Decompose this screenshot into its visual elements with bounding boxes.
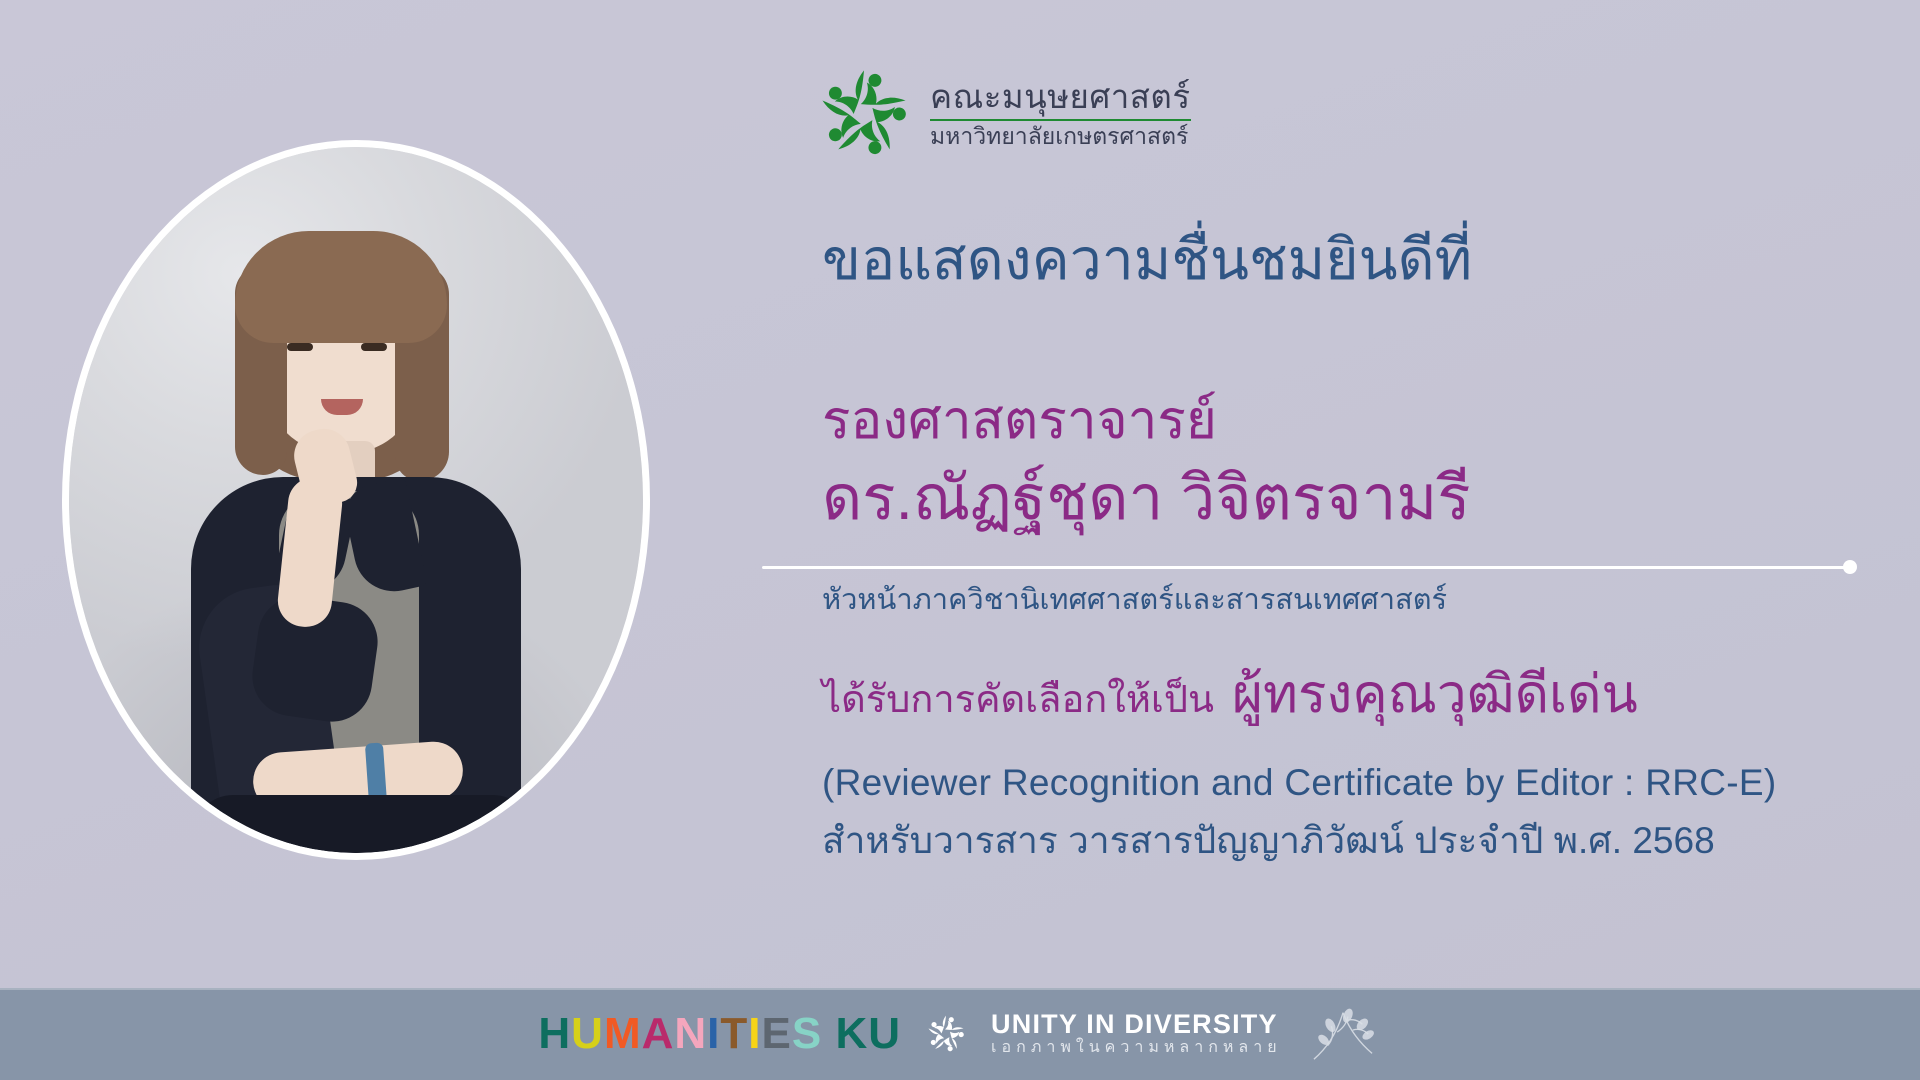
humanities-letter-7: I [748, 1012, 761, 1056]
portrait-ring [62, 140, 650, 860]
honoree-position: หัวหน้าภาควิชานิเทศศาสตร์และสารสนเทศศาสต… [822, 586, 1447, 615]
award-title-text: ผู้ทรงคุณวุฒิดีเด่น [1232, 665, 1638, 724]
congratulation-banner: คณะมนุษยศาสตร์ มหาวิทยาลัยเกษตรศาสตร์ ขอ… [0, 0, 1920, 1080]
section-divider [762, 566, 1854, 569]
award-english-text: (Reviewer Recognition and Certificate by… [822, 764, 1776, 801]
award-statement: ได้รับการคัดเลือกให้เป็นผู้ทรงคุณวุฒิดีเ… [822, 668, 1638, 721]
portrait-photo [69, 147, 643, 853]
unity-slogan-th: เอกภาพในความหลากหลาย [991, 1038, 1282, 1058]
portrait-lap [193, 795, 533, 853]
humanities-letter-9: S [792, 1012, 822, 1056]
humanities-letter-3: A [642, 1012, 675, 1056]
portrait-hair-front [235, 231, 447, 343]
humanities-letter-5: I [707, 1012, 720, 1056]
footer-content: HUMANITIES KU [0, 988, 1920, 1080]
humanities-letter-0: H [538, 1012, 571, 1056]
humanities-letter-1: U [571, 1012, 604, 1056]
divider-end-dot [1843, 560, 1857, 574]
humanities-letter-6: T [720, 1012, 748, 1056]
portrait-eye-left [287, 343, 313, 351]
humanities-letter-11: K [835, 1012, 868, 1056]
university-name-th: มหาวิทยาลัยเกษตรศาสตร์ [930, 124, 1191, 150]
ku-humanities-flower-logo [812, 62, 916, 166]
humanities-letter-4: N [674, 1012, 707, 1056]
faculty-logo: คณะมนุษยศาสตร์ มหาวิทยาลัยเกษตรศาสตร์ [812, 62, 1191, 166]
humanities-letter-10 [822, 1012, 835, 1056]
award-prefix-text: ได้รับการคัดเลือกให้เป็น [822, 679, 1214, 721]
leaf-branch-decoration [1304, 1003, 1382, 1065]
humanities-letter-12: U [868, 1012, 901, 1056]
unity-slogan-en: UNITY IN DIVERSITY [991, 1010, 1282, 1038]
humanities-ku-wordmark: HUMANITIES KU [538, 1012, 901, 1056]
faculty-logo-text: คณะมนุษยศาสตร์ มหาวิทยาลัยเกษตรศาสตร์ [930, 79, 1191, 150]
portrait-frame [62, 140, 650, 860]
faculty-name-th: คณะมนุษยศาสตร์ [930, 79, 1191, 116]
journal-year-text: สำหรับวารสาร วารสารปัญญาภิวัฒน์ ประจำปี … [822, 822, 1715, 859]
honoree-name: ดร.ณัฏฐ์ชุดา วิจิตรจามรี [822, 468, 1471, 530]
academic-rank: รองศาสตราจารย์ [822, 394, 1217, 447]
humanities-letter-8: E [762, 1012, 792, 1056]
portrait-eye-right [361, 343, 387, 351]
congratulation-headline: ขอแสดงความชื่นชมยินดีที่ [822, 232, 1472, 289]
unity-slogan: UNITY IN DIVERSITY เอกภาพในความหลากหลาย [991, 1010, 1282, 1058]
logo-divider-rule [930, 119, 1191, 121]
humanities-letter-2: M [604, 1012, 642, 1056]
unity-in-diversity-flower-icon [923, 1011, 969, 1057]
